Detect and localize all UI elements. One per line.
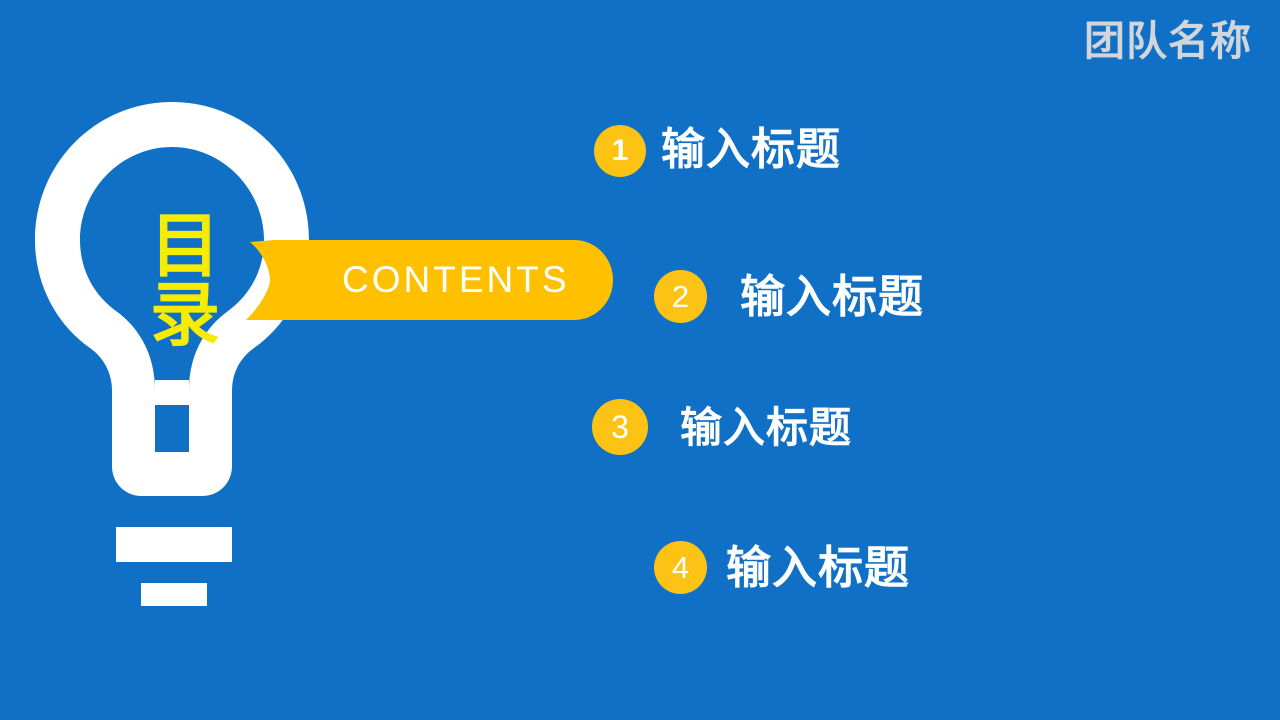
item-4-title: 输入标题 [726,539,910,597]
item-2-title: 输入标题 [740,268,924,326]
item-2-number-badge: 2 [654,270,707,323]
item-1-title: 输入标题 [661,122,841,178]
lightbulb-icon [0,80,360,640]
item-3-title: 输入标题 [680,401,852,455]
directory-label: 目 录 [140,212,230,349]
item-3-number-badge: 3 [592,399,648,455]
directory-label-line-1: 目 [140,212,230,281]
contents-slide: 团队名称 目 录 CONTENTS 1 输入标题 2 输入标题 [0,0,1280,720]
directory-label-line-2: 录 [140,281,230,350]
item-1-number-badge: 1 [594,125,646,177]
contents-banner-label: CONTENTS [342,258,542,302]
item-4-number-badge: 4 [654,541,707,594]
team-name-header: 团队名称 [1084,19,1252,64]
